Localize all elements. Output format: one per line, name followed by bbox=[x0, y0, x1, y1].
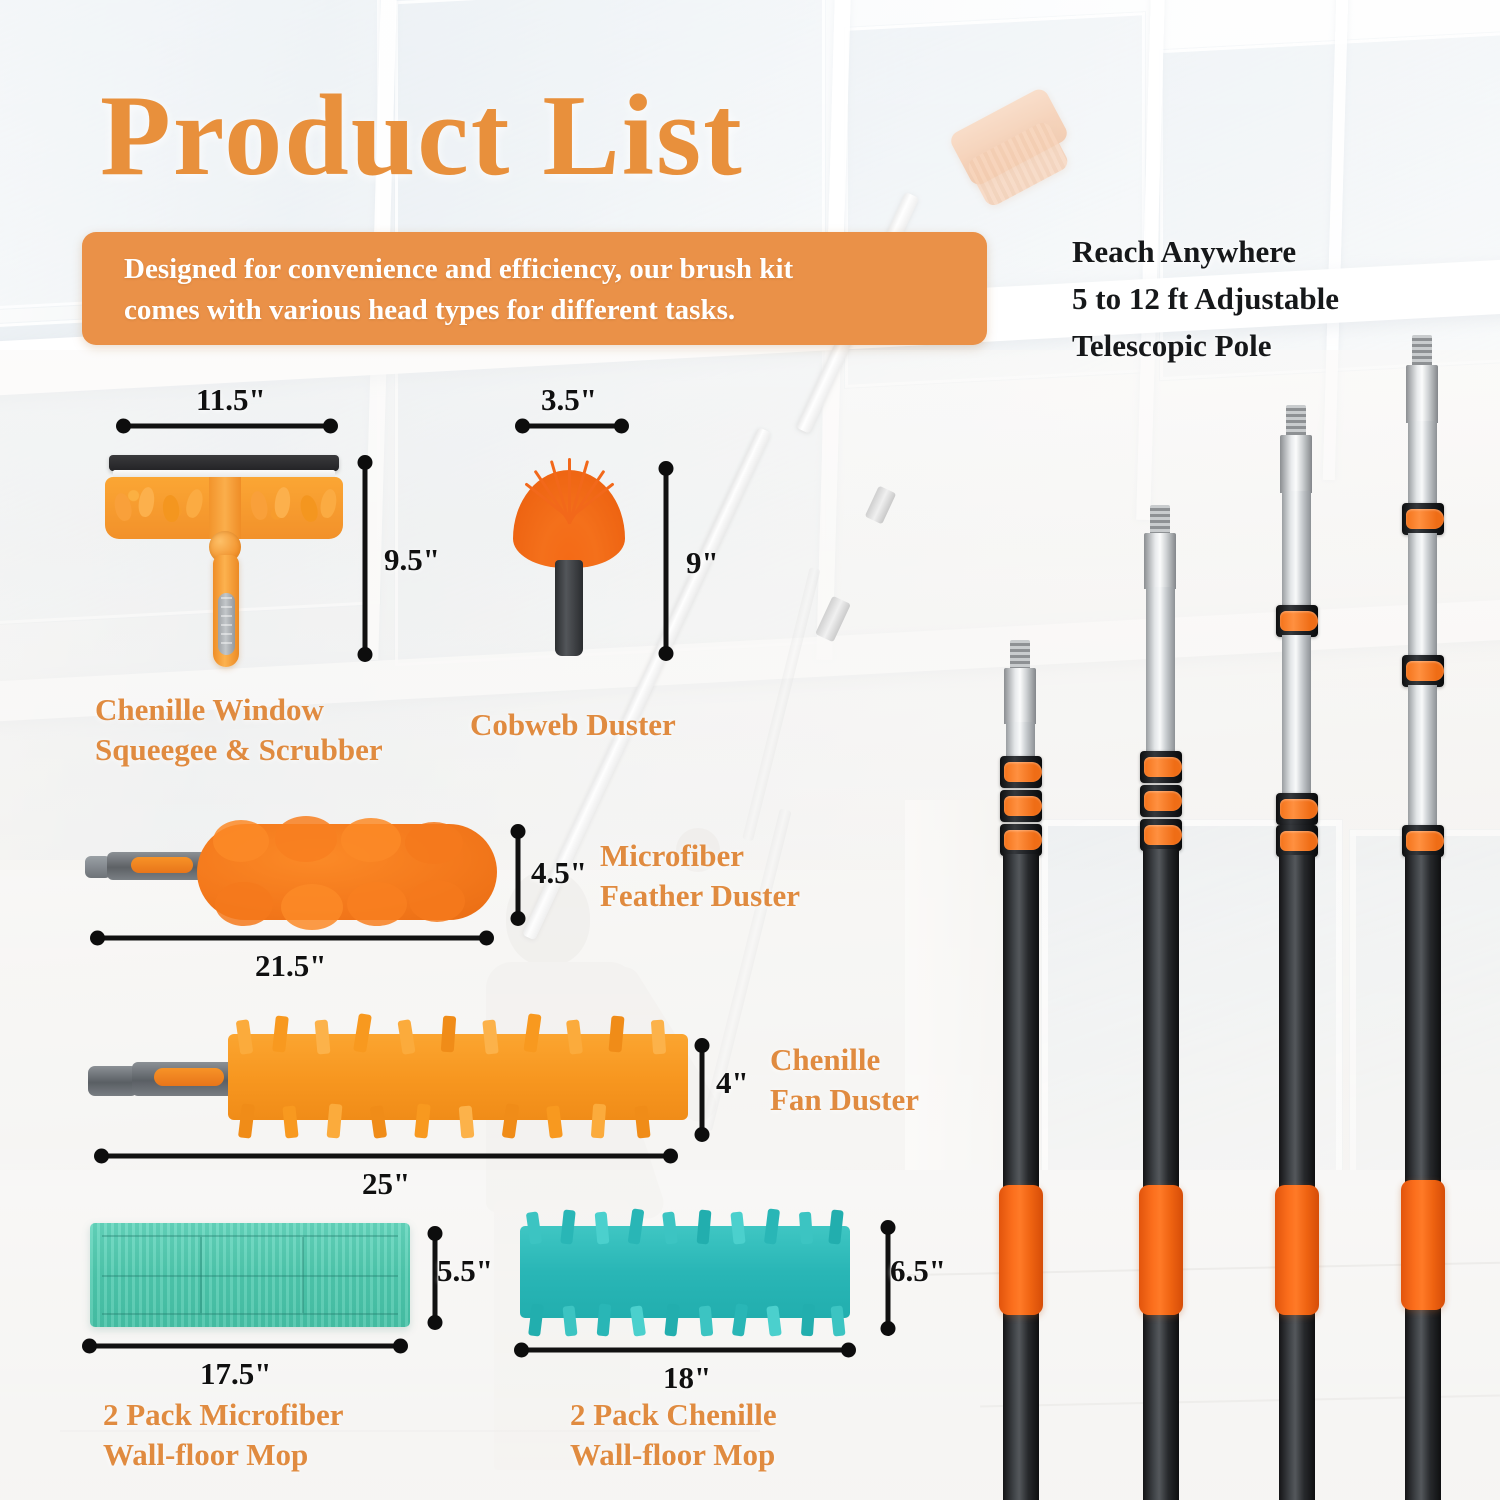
dimension-endpoint bbox=[82, 1339, 97, 1354]
caption-chenille-fan-duster: Chenille Fan Duster bbox=[770, 1040, 919, 1119]
dimension-bar bbox=[118, 424, 336, 429]
cobweb-height-dimension bbox=[658, 463, 674, 659]
pole-silver-segment bbox=[1282, 491, 1311, 609]
chenille-noodle bbox=[664, 1303, 679, 1336]
pole-lock-lever bbox=[1406, 831, 1444, 851]
pole-metal-ferrule bbox=[1004, 668, 1036, 724]
mop-pad-seam bbox=[302, 1237, 304, 1313]
caption-line-1: Cobweb Duster bbox=[470, 705, 676, 745]
pole-metal-ferrule bbox=[1144, 533, 1176, 589]
dimension-endpoint bbox=[393, 1339, 408, 1354]
product-microfiber-feather-duster bbox=[85, 818, 505, 938]
feather-duster-grip-accent bbox=[131, 857, 193, 873]
feather-duster-width-dimension bbox=[92, 930, 492, 946]
caption-line-2: Feather Duster bbox=[600, 876, 800, 916]
reach-headline: Reach Anywhere 5 to 12 ft Adjustable Tel… bbox=[1072, 228, 1339, 369]
squeegee-width-label: 11.5" bbox=[196, 382, 266, 418]
feather-fluff bbox=[341, 818, 401, 862]
pole-silver-segment bbox=[1408, 533, 1437, 661]
pole-lock-lever bbox=[1406, 661, 1444, 681]
feather-fluff bbox=[409, 880, 465, 922]
fan-duster-width-dimension bbox=[96, 1148, 676, 1164]
feather-fluff bbox=[347, 882, 407, 926]
squeegee-height-dimension bbox=[357, 457, 373, 660]
pole-lock-lever bbox=[1004, 796, 1042, 816]
cobweb-height-label: 9" bbox=[686, 545, 719, 581]
dimension-bar bbox=[700, 1040, 705, 1140]
dimension-endpoint bbox=[514, 1343, 529, 1358]
microfiber-mop-width-dimension bbox=[84, 1338, 406, 1354]
microfiber-mop-height-label: 5.5" bbox=[437, 1253, 493, 1289]
squeegee-width-dimension bbox=[118, 418, 336, 434]
pole-threaded-tip bbox=[1150, 505, 1170, 535]
pole-foam-grip bbox=[1139, 1185, 1183, 1315]
dimension-bar bbox=[363, 457, 368, 660]
caption-line-1: Microfiber bbox=[600, 836, 800, 876]
cobweb-width-dimension bbox=[517, 418, 627, 434]
caption-line-2: Wall-floor Mop bbox=[103, 1435, 343, 1475]
caption-line-1: Chenille bbox=[770, 1040, 919, 1080]
mop-pad-seam bbox=[200, 1237, 202, 1313]
chenille-noodle bbox=[327, 1103, 343, 1138]
dimension-bar bbox=[96, 1154, 676, 1159]
dimension-endpoint bbox=[323, 419, 338, 434]
product-chenille-fan-duster bbox=[88, 1012, 698, 1142]
fan-duster-height-dimension bbox=[694, 1040, 710, 1140]
pole-foam-grip bbox=[1401, 1180, 1445, 1310]
dimension-endpoint bbox=[90, 931, 105, 946]
cobweb-handle bbox=[555, 560, 583, 656]
feather-fluff bbox=[281, 884, 343, 930]
product-window-squeegee bbox=[105, 455, 345, 670]
dimension-endpoint bbox=[428, 1226, 443, 1241]
pole-lock-lever bbox=[1144, 791, 1182, 811]
chenille-noodle bbox=[651, 1020, 666, 1055]
dimension-endpoint bbox=[511, 824, 526, 839]
dimension-endpoint bbox=[358, 647, 373, 662]
mop-pad-seam bbox=[102, 1235, 398, 1237]
cobweb-width-label: 3.5" bbox=[541, 382, 597, 418]
dimension-bar bbox=[517, 424, 627, 429]
pole-lock-lever bbox=[1280, 611, 1318, 631]
fan-duster-width-label: 25" bbox=[362, 1166, 410, 1202]
pole-lock-lever bbox=[1280, 831, 1318, 851]
chenille-noodle bbox=[528, 1303, 544, 1336]
pole-black-shaft bbox=[1003, 854, 1039, 1500]
pole-threaded-tip bbox=[1286, 405, 1306, 437]
dimension-bar bbox=[516, 1348, 854, 1353]
feather-duster-width-label: 21.5" bbox=[255, 948, 326, 984]
banner-line-1: Designed for convenience and efficiency,… bbox=[124, 249, 953, 290]
chenille-noodle bbox=[730, 1211, 745, 1244]
pole-lock-lever bbox=[1004, 762, 1042, 782]
mop-pad-seam bbox=[102, 1313, 398, 1315]
caption-window-squeegee: Chenille Window Squeegee & Scrubber bbox=[95, 690, 383, 769]
telescopic-pole-3 bbox=[1262, 405, 1332, 1500]
product-cobweb-duster bbox=[505, 460, 635, 660]
chenille-noodle bbox=[238, 1103, 255, 1138]
feather-fluff bbox=[275, 816, 337, 862]
chenille-noodle bbox=[595, 1212, 610, 1245]
feather-fluff bbox=[215, 882, 273, 926]
squeegee-neck bbox=[209, 477, 241, 539]
pole-lock-lever bbox=[1144, 825, 1182, 845]
chenille-noodle bbox=[441, 1016, 456, 1053]
chenille-mop-width-dimension bbox=[516, 1342, 854, 1358]
caption-line-1: 2 Pack Chenille bbox=[570, 1395, 777, 1435]
pole-threaded-tip bbox=[1412, 335, 1432, 367]
dimension-endpoint bbox=[116, 419, 131, 434]
telescopic-pole-2 bbox=[1126, 505, 1196, 1500]
chenille-noodle bbox=[699, 1306, 714, 1337]
dimension-bar bbox=[84, 1344, 406, 1349]
dimension-endpoint bbox=[659, 461, 674, 476]
pole-lock-lever bbox=[1144, 757, 1182, 777]
chenille-noodle bbox=[566, 1019, 583, 1054]
squeegee-blade bbox=[109, 455, 339, 471]
fan-duster-height-label: 4" bbox=[716, 1065, 749, 1101]
infographic-canvas: Product List Designed for convenience an… bbox=[0, 0, 1500, 1500]
pole-silver-segment bbox=[1282, 635, 1311, 797]
page-title: Product List bbox=[100, 78, 744, 194]
dimension-endpoint bbox=[614, 419, 629, 434]
caption-microfiber-feather-duster: Microfiber Feather Duster bbox=[600, 836, 800, 915]
dimension-endpoint bbox=[515, 419, 530, 434]
chenille-mop-height-label: 6.5" bbox=[890, 1253, 946, 1289]
caption-cobweb-duster: Cobweb Duster bbox=[470, 705, 676, 745]
feather-fluff bbox=[405, 822, 463, 864]
chenille-mop-width-label: 18" bbox=[663, 1360, 711, 1396]
chenille-noodle bbox=[482, 1019, 498, 1054]
caption-line-1: Chenille Window bbox=[95, 690, 383, 730]
caption-microfiber-mop: 2 Pack Microfiber Wall-floor Mop bbox=[103, 1395, 343, 1474]
dimension-endpoint bbox=[479, 931, 494, 946]
dimension-endpoint bbox=[659, 646, 674, 661]
pole-lock-lever bbox=[1280, 799, 1318, 819]
pole-silver-segment bbox=[1408, 685, 1437, 833]
fan-duster-grip-accent bbox=[154, 1068, 224, 1086]
feather-duster-height-dimension bbox=[510, 826, 526, 924]
pole-metal-ferrule bbox=[1280, 435, 1312, 493]
dimension-endpoint bbox=[428, 1315, 443, 1330]
dimension-endpoint bbox=[841, 1343, 856, 1358]
microfiber-mop-width-label: 17.5" bbox=[200, 1356, 271, 1392]
banner-line-2: comes with various head types for differ… bbox=[124, 290, 953, 331]
dimension-endpoint bbox=[695, 1127, 710, 1142]
dimension-endpoint bbox=[881, 1321, 896, 1336]
pole-black-shaft bbox=[1405, 855, 1441, 1500]
dimension-bar bbox=[92, 936, 492, 941]
fan-duster-handle bbox=[88, 1066, 138, 1096]
chenille-noodle bbox=[662, 1211, 678, 1244]
chenille-noodle bbox=[799, 1212, 813, 1245]
chenille-noodle bbox=[591, 1104, 606, 1139]
caption-line-2: Fan Duster bbox=[770, 1080, 919, 1120]
caption-line-2: Squeegee & Scrubber bbox=[95, 730, 383, 770]
feather-fluff bbox=[213, 820, 269, 862]
feather-duster-height-label: 4.5" bbox=[531, 855, 587, 891]
caption-line-1: 2 Pack Microfiber bbox=[103, 1395, 343, 1435]
chenille-noodle bbox=[801, 1304, 815, 1337]
dimension-bar bbox=[516, 826, 521, 924]
dimension-endpoint bbox=[358, 455, 373, 470]
dimension-bar bbox=[664, 463, 669, 659]
reach-line-2: 5 to 12 ft Adjustable bbox=[1072, 275, 1339, 322]
caption-line-2: Wall-floor Mop bbox=[570, 1435, 777, 1475]
product-chenille-mop-pad bbox=[510, 1212, 860, 1338]
pole-lock-lever bbox=[1004, 830, 1042, 850]
squeegee-height-label: 9.5" bbox=[384, 542, 440, 578]
caption-chenille-mop: 2 Pack Chenille Wall-floor Mop bbox=[570, 1395, 777, 1474]
pole-foam-grip bbox=[999, 1185, 1043, 1315]
pole-silver-segment bbox=[1146, 587, 1175, 755]
dimension-endpoint bbox=[881, 1220, 896, 1235]
pole-silver-segment bbox=[1408, 421, 1437, 507]
reach-line-3: Telescopic Pole bbox=[1072, 322, 1339, 369]
reach-line-1: Reach Anywhere bbox=[1072, 228, 1339, 275]
pole-black-shaft bbox=[1143, 849, 1179, 1500]
pole-black-shaft bbox=[1279, 855, 1315, 1500]
pole-threaded-tip bbox=[1010, 640, 1030, 670]
chenille-noodle bbox=[459, 1105, 475, 1138]
product-microfiber-mop-pad bbox=[90, 1223, 410, 1327]
pole-metal-ferrule bbox=[1406, 365, 1438, 423]
telescopic-pole-1 bbox=[986, 640, 1056, 1500]
chenille-noodle bbox=[597, 1304, 612, 1337]
subtitle-banner: Designed for convenience and efficiency,… bbox=[82, 232, 987, 345]
dimension-endpoint bbox=[663, 1149, 678, 1164]
chenille-noodle bbox=[315, 1019, 331, 1054]
dimension-endpoint bbox=[94, 1149, 109, 1164]
mop-pad-seam bbox=[102, 1275, 398, 1277]
chenille-noodle bbox=[414, 1103, 430, 1138]
squeegee-rubber-grip bbox=[218, 593, 235, 655]
telescopic-pole-4 bbox=[1388, 335, 1458, 1500]
dimension-endpoint bbox=[511, 911, 526, 926]
dimension-endpoint bbox=[695, 1038, 710, 1053]
pole-foam-grip bbox=[1275, 1185, 1319, 1315]
pole-lock-lever bbox=[1406, 509, 1444, 529]
